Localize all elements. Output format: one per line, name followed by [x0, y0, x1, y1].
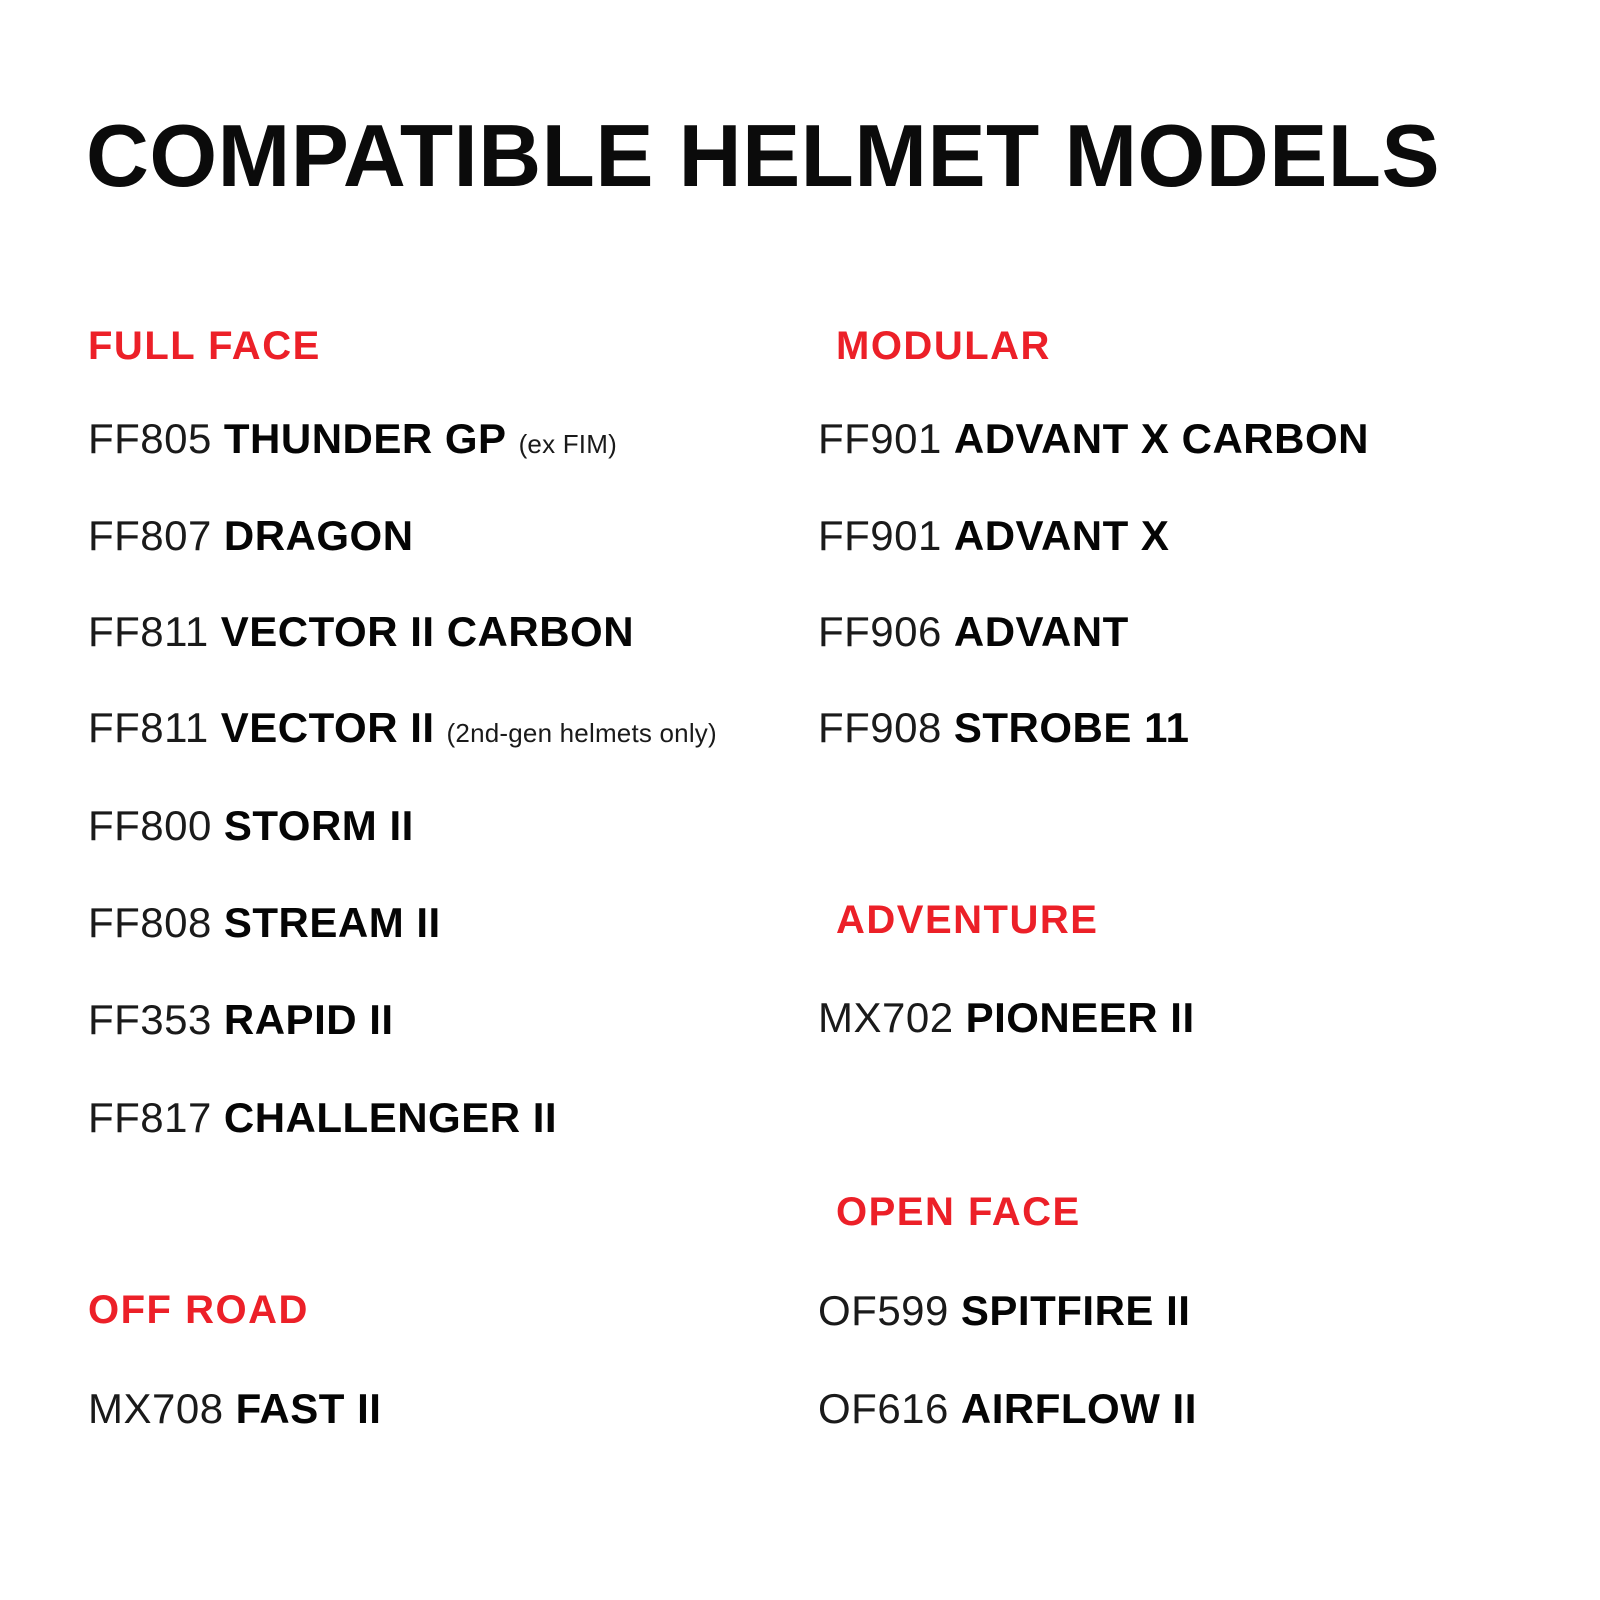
model-row[interactable]: FF817CHALLENGER II — [88, 1097, 557, 1139]
model-row[interactable]: FF805THUNDER GP(ex FIM) — [88, 418, 617, 460]
model-row[interactable]: FF808STREAM II — [88, 902, 441, 944]
model-name: STREAM II — [224, 899, 441, 946]
model-code: FF805 — [88, 415, 212, 462]
model-code: FF901 — [818, 415, 942, 462]
model-name: ADVANT — [954, 608, 1129, 655]
column-left: FULL FACE FF805THUNDER GP(ex FIM) FF807D… — [88, 0, 828, 1600]
model-code: FF800 — [88, 802, 212, 849]
model-name: CHALLENGER II — [224, 1094, 557, 1141]
model-name: AIRFLOW II — [961, 1385, 1197, 1432]
model-row[interactable]: FF807DRAGON — [88, 515, 414, 557]
model-code: FF906 — [818, 608, 942, 655]
model-name: THUNDER GP — [224, 415, 507, 462]
model-name: ADVANT X CARBON — [954, 415, 1369, 462]
model-row[interactable]: MX708FAST II — [88, 1388, 381, 1430]
model-note: (ex FIM) — [519, 429, 617, 459]
model-row[interactable]: FF901ADVANT X — [818, 515, 1169, 557]
model-code: FF808 — [88, 899, 212, 946]
model-note: (2nd-gen helmets only) — [447, 718, 717, 748]
model-row[interactable]: OF599SPITFIRE II — [818, 1290, 1190, 1332]
section-heading-modular: MODULAR — [836, 326, 1051, 366]
model-name: ADVANT X — [954, 512, 1170, 559]
model-code: FF817 — [88, 1094, 212, 1141]
model-name: DRAGON — [224, 512, 414, 559]
model-row[interactable]: FF908STROBE 11 — [818, 707, 1189, 749]
model-name: STORM II — [224, 802, 414, 849]
model-code: FF901 — [818, 512, 942, 559]
model-code: MX708 — [88, 1385, 224, 1432]
model-row[interactable]: OF616AIRFLOW II — [818, 1388, 1197, 1430]
model-code: OF599 — [818, 1287, 949, 1334]
model-name: VECTOR II — [221, 704, 435, 751]
model-name: FAST II — [236, 1385, 382, 1432]
section-heading-adventure: ADVENTURE — [836, 900, 1098, 940]
model-name: STROBE 11 — [954, 704, 1190, 751]
model-code: FF811 — [88, 608, 209, 655]
model-row[interactable]: FF811VECTOR II CARBON — [88, 611, 634, 653]
model-row[interactable]: FF800STORM II — [88, 805, 414, 847]
model-code: FF908 — [818, 704, 942, 751]
model-name: PIONEER II — [966, 994, 1195, 1041]
model-code: FF353 — [88, 996, 212, 1043]
model-code: MX702 — [818, 994, 954, 1041]
section-heading-full-face: FULL FACE — [88, 326, 321, 366]
model-row[interactable]: FF901ADVANT X CARBON — [818, 418, 1369, 460]
model-code: FF811 — [88, 704, 209, 751]
model-row[interactable]: FF811VECTOR II(2nd-gen helmets only) — [88, 707, 717, 749]
model-code: FF807 — [88, 512, 212, 559]
model-columns: FULL FACE FF805THUNDER GP(ex FIM) FF807D… — [0, 0, 1600, 1600]
model-row[interactable]: FF353RAPID II — [88, 999, 394, 1041]
model-name: RAPID II — [224, 996, 394, 1043]
model-code: OF616 — [818, 1385, 949, 1432]
model-row[interactable]: FF906ADVANT — [818, 611, 1129, 653]
model-name: SPITFIRE II — [961, 1287, 1191, 1334]
helmet-compatibility-page: COMPATIBLE HELMET MODELS FULL FACE FF805… — [0, 0, 1600, 1600]
column-right: MODULAR FF901ADVANT X CARBON FF901ADVANT… — [818, 0, 1558, 1600]
section-heading-open-face: OPEN FACE — [836, 1192, 1081, 1232]
model-name: VECTOR II CARBON — [221, 608, 634, 655]
model-row[interactable]: MX702PIONEER II — [818, 997, 1195, 1039]
section-heading-off-road: OFF ROAD — [88, 1290, 309, 1330]
